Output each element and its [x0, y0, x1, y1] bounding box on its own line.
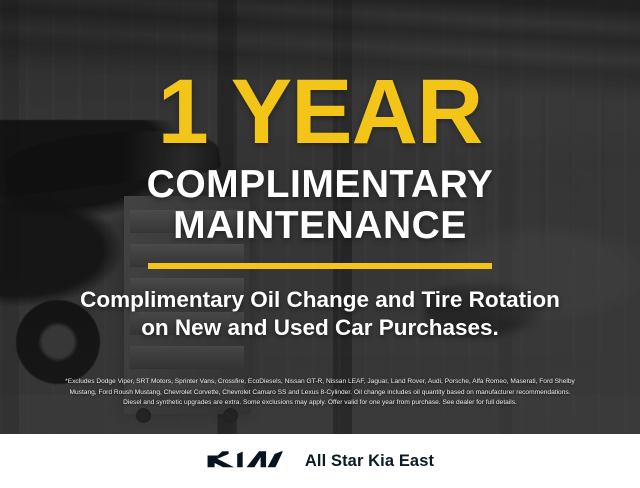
- banner-content: 1 YEAR COMPLIMENTARY MAINTENANCE Complim…: [0, 0, 640, 434]
- yellow-divider-rule: [148, 263, 492, 269]
- hero-photo-region: 1 YEAR COMPLIMENTARY MAINTENANCE Complim…: [0, 0, 640, 434]
- disclaimer-fine-print: *Excludes Dodge Viper, SRT Motors, Sprin…: [14, 377, 626, 409]
- tagline-line-2: on New and Used Car Purchases.: [80, 314, 560, 342]
- promotional-banner: 1 YEAR COMPLIMENTARY MAINTENANCE Complim…: [0, 0, 640, 488]
- kia-wordmark-logo: [206, 450, 284, 472]
- disclaimer-line-2: Mustang, Ford Roush Mustang, Chevrolet C…: [14, 388, 626, 399]
- subhead-maintenance: MAINTENANCE: [173, 206, 467, 246]
- offer-tagline: Complimentary Oil Change and Tire Rotati…: [80, 286, 560, 343]
- headline-1-year: 1 YEAR: [158, 74, 483, 151]
- disclaimer-line-3: Diesel and synthetic upgrades are extra.…: [14, 398, 626, 409]
- disclaimer-line-1: *Excludes Dodge Viper, SRT Motors, Sprin…: [14, 377, 626, 388]
- subhead-complimentary: COMPLIMENTARY: [147, 165, 494, 205]
- tagline-line-1: Complimentary Oil Change and Tire Rotati…: [80, 286, 560, 314]
- dealer-name-label: All Star Kia East: [305, 452, 434, 471]
- dealer-footer-bar: All Star Kia East: [0, 434, 640, 488]
